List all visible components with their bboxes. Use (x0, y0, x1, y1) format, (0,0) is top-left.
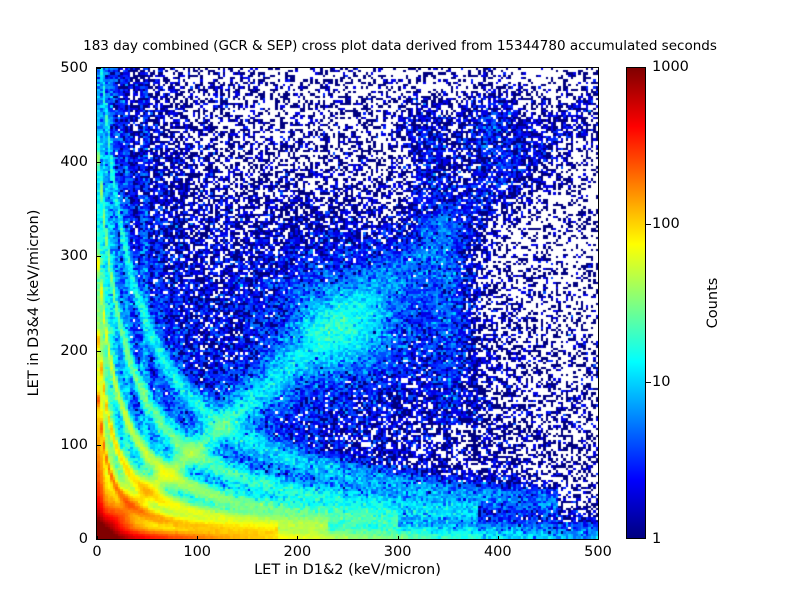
colorbar[interactable] (626, 67, 646, 539)
x-axis-label: LET in D1&2 (keV/micron) (96, 562, 599, 578)
colorbar-tick-label: 1 (652, 531, 661, 547)
x-tick-mark (598, 536, 599, 540)
y-tick-mark (97, 539, 101, 540)
x-tick-mark (197, 536, 198, 540)
y-axis-label: LET in D3&4 (keV/micron) (26, 210, 42, 397)
colorbar-tick-label: 10 (652, 374, 670, 390)
x-tick-label: 500 (584, 544, 612, 560)
y-tick-mark (97, 68, 101, 69)
x-tick-label: 300 (384, 544, 412, 560)
y-tick-mark (97, 445, 101, 446)
y-tick-label: 0 (20, 531, 88, 547)
colorbar-tick-mark (646, 224, 651, 225)
colorbar-tick-label: 1000 (652, 59, 689, 75)
y-tick-label: 100 (20, 437, 88, 453)
y-tick-label: 500 (20, 60, 88, 76)
title-line-1: 183 day combined (GCR & SEP) cross plot … (0, 38, 800, 55)
colorbar-tick-label: 100 (652, 216, 680, 232)
x-tick-label: 100 (183, 544, 211, 560)
colorbar-tick-mark (646, 382, 651, 383)
y-tick-mark (97, 256, 101, 257)
figure-root: 183 day combined (GCR & SEP) cross plot … (0, 0, 800, 600)
y-tick-label: 400 (20, 154, 88, 170)
x-tick-label: 0 (92, 544, 101, 560)
colorbar-gradient (627, 68, 645, 538)
x-tick-label: 200 (284, 544, 312, 560)
x-tick-mark (398, 536, 399, 540)
plot-area[interactable] (96, 67, 599, 540)
colorbar-label: Counts (705, 278, 721, 329)
x-tick-mark (297, 536, 298, 540)
density-heatmap (97, 68, 598, 539)
y-tick-mark (97, 162, 101, 163)
x-tick-mark (498, 536, 499, 540)
x-tick-label: 400 (484, 544, 512, 560)
y-tick-mark (97, 351, 101, 352)
